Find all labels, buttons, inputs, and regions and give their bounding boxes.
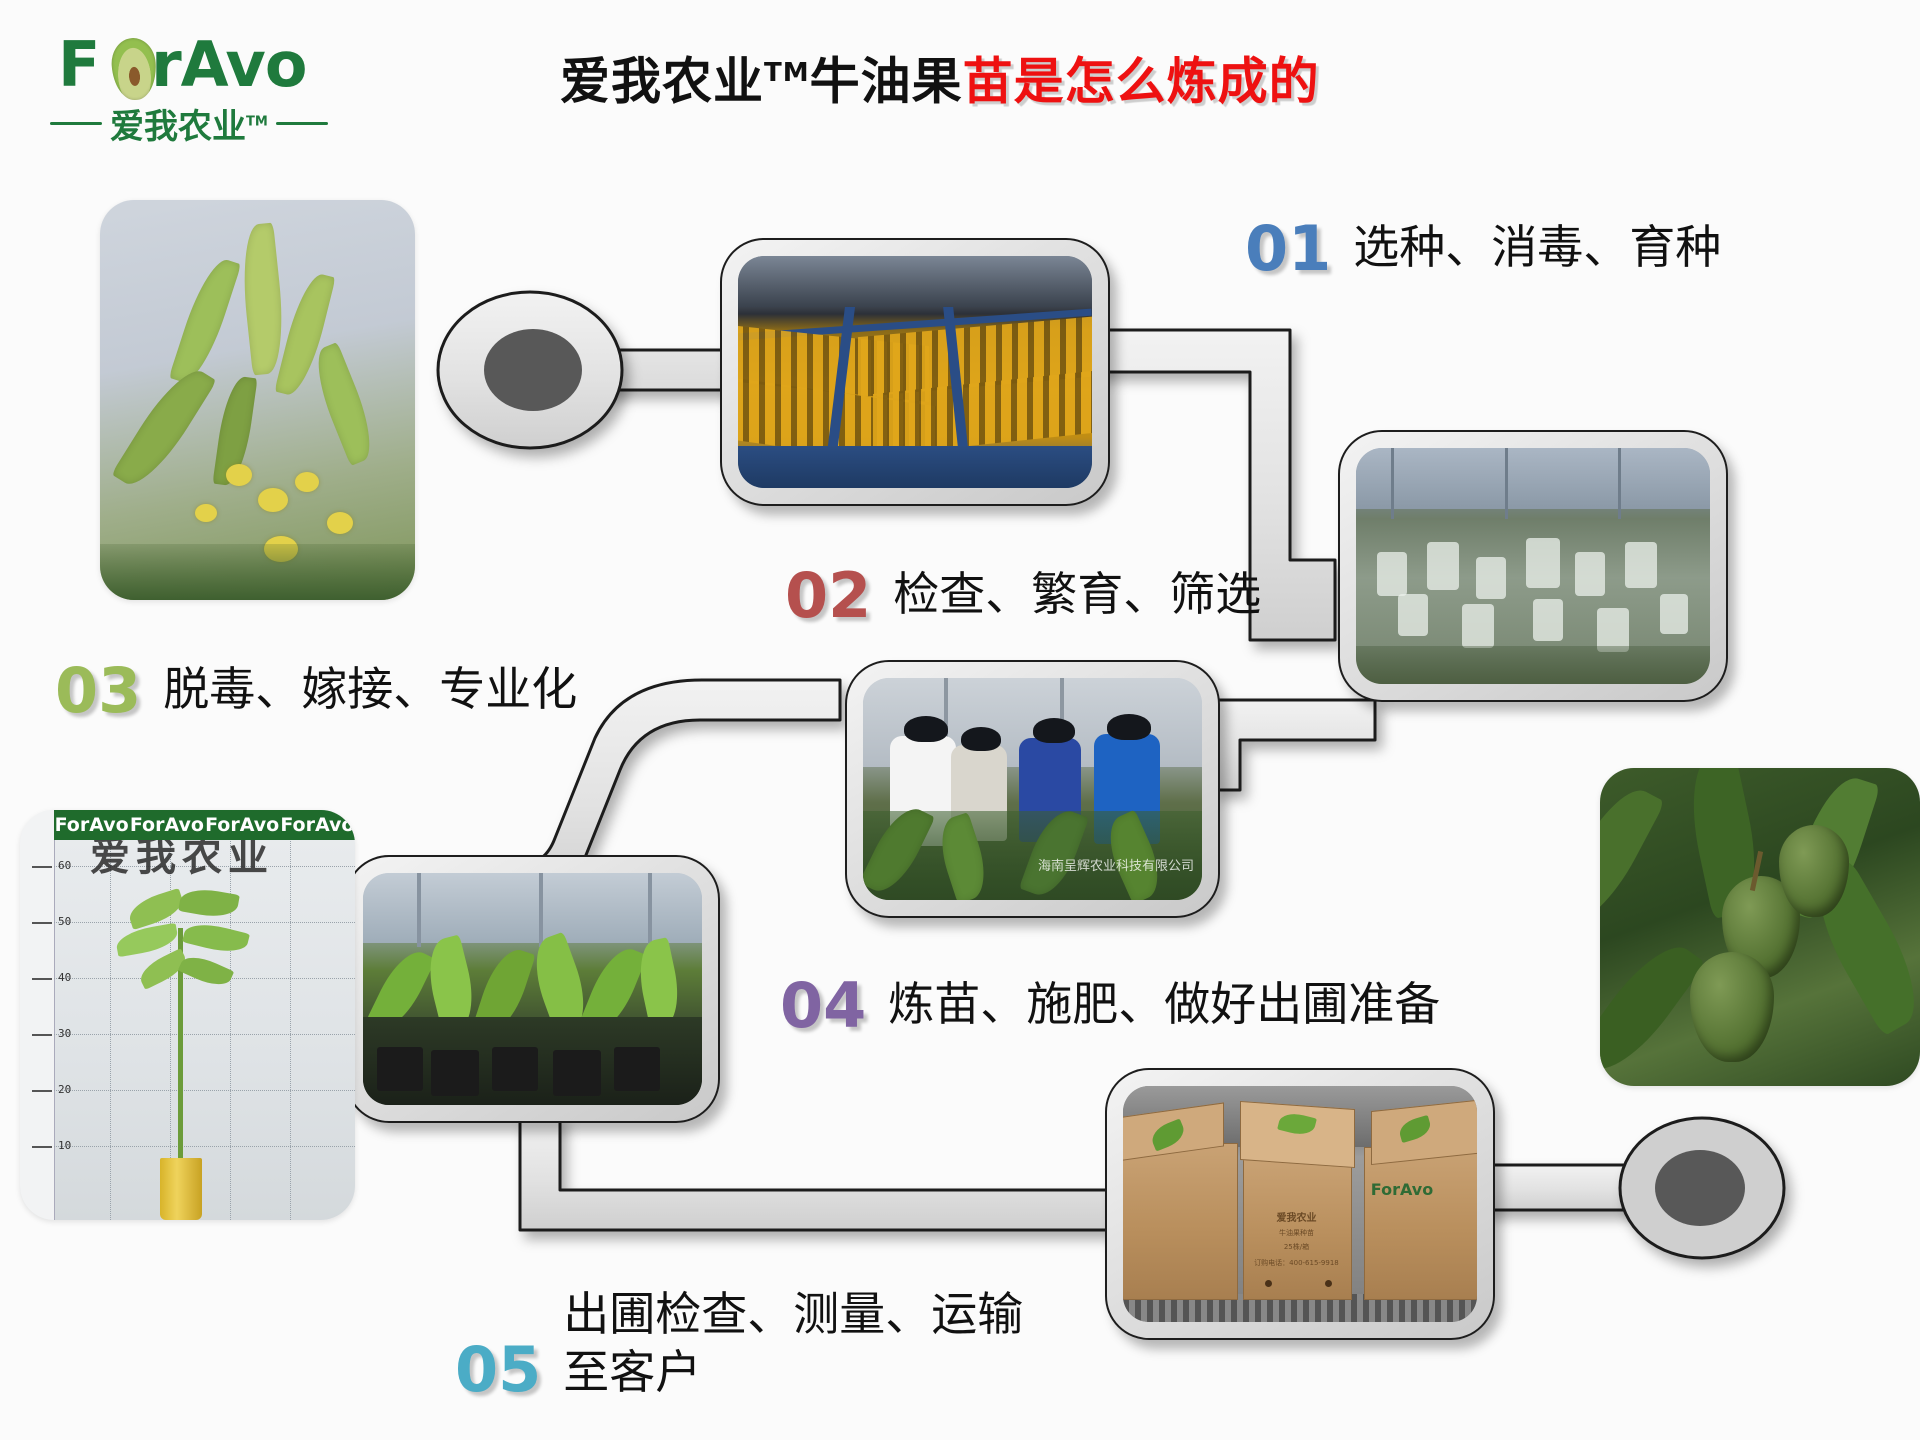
step-04: 04 炼苗、施肥、做好出圃准备 [780, 975, 1440, 1037]
step-03-number: 03 [55, 660, 141, 722]
step-05-label-group: 出圃检查、测量、运输 至客户 [563, 1285, 1023, 1401]
step-05-number: 05 [455, 1339, 541, 1401]
ruler-tick-50: 50 [58, 915, 71, 928]
step-03-label: 脱毒、嫁接、专业化 [163, 660, 577, 718]
band-text-4: ForAvo [280, 814, 354, 836]
photo-seed-trays-image [738, 256, 1092, 488]
ribbon-segment-5 [520, 1115, 1110, 1230]
box-phone-text: 订购电话：400-615-9918 [1243, 1258, 1349, 1268]
photo-avocado-flowers-image [100, 200, 415, 600]
ruler-tick-10: 10 [58, 1139, 71, 1152]
photo-staff-inspection: 海南呈辉农业科技有限公司 [845, 660, 1220, 918]
step-02-label: 检查、繁育、筛选 [893, 565, 1261, 623]
photo-staff-inspection-image: 海南呈辉农业科技有限公司 [863, 678, 1202, 900]
flow-end-node [1620, 1118, 1784, 1258]
step-01-number: 01 [1245, 218, 1331, 280]
box-logo-text: ForAvo [1371, 1180, 1477, 1199]
photo-potted-seedlings [345, 855, 720, 1123]
photo-shipping-boxes-image: 爱我农业 牛油果种苗 25株/箱 订购电话：400-615-9918 ForAv… [1123, 1086, 1477, 1322]
box-brand-text: 爱我农业 [1243, 1209, 1349, 1224]
step-02-number: 02 [785, 565, 871, 627]
photo-greenhouse-grafting [1338, 430, 1728, 702]
step-04-label: 炼苗、施肥、做好出圃准备 [888, 975, 1440, 1033]
ruler-tick-30: 30 [58, 1027, 71, 1040]
photo-greenhouse-grafting-image [1356, 448, 1710, 684]
photo-measured-seedling: 60 50 40 30 20 10 爱我农业 TM ForAvo [20, 810, 355, 1220]
step-03: 03 脱毒、嫁接、专业化 [55, 660, 577, 722]
box-sub-text: 牛油果种苗 [1243, 1228, 1349, 1238]
infographic-canvas: FOrAvo 爱我农业TM 爱我农业TM牛油果苗是怎么炼成的 [0, 0, 1920, 1440]
photo-shipping-boxes: 爱我农业 牛油果种苗 25株/箱 订购电话：400-615-9918 ForAv… [1105, 1068, 1495, 1340]
photo-avocado-flowers [100, 200, 415, 600]
step-04-number: 04 [780, 975, 866, 1037]
ruler-tick-40: 40 [58, 971, 71, 984]
flow-start-node [438, 292, 622, 448]
photo-watermark: 海南呈辉农业科技有限公司 [1038, 855, 1194, 874]
photo-measured-seedling-image: 60 50 40 30 20 10 爱我农业 TM ForAvo [20, 810, 355, 1220]
step-05: 05 出圃检查、测量、运输 至客户 [455, 1285, 1023, 1401]
ruler-scale [20, 810, 55, 1220]
photo-avocado-fruit-image [1600, 768, 1920, 1086]
step-05-label-line1: 出圃检查、测量、运输 [563, 1285, 1023, 1343]
ruler-brand-band: ForAvo ForAvo ForAvo ForAvo [54, 810, 355, 840]
step-05-label-line2: 至客户 [563, 1343, 1023, 1401]
ruler-tick-60: 60 [58, 859, 71, 872]
step-02: 02 检查、繁育、筛选 [785, 565, 1261, 627]
band-text-2: ForAvo [130, 814, 204, 836]
photo-avocado-fruit [1600, 768, 1920, 1086]
photo-seed-trays [720, 238, 1110, 506]
band-text-1: ForAvo [55, 814, 129, 836]
band-text-3: ForAvo [205, 814, 279, 836]
ruler-tick-20: 20 [58, 1083, 71, 1096]
box-qty-text: 25株/箱 [1243, 1242, 1349, 1252]
ribbon-segment-3 [1215, 700, 1375, 790]
step-01: 01 选种、消毒、育种 [1245, 218, 1721, 280]
photo-potted-seedlings-image [363, 873, 702, 1105]
step-01-label: 选种、消毒、育种 [1353, 218, 1721, 276]
